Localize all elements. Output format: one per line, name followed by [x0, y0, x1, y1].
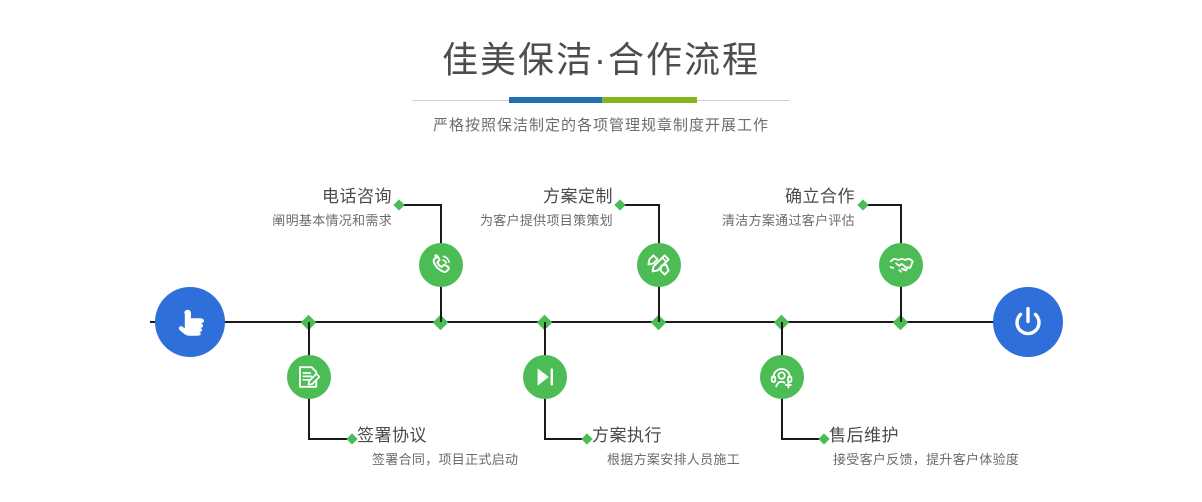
- step-title: 方案执行: [592, 425, 842, 447]
- flow-end-node[interactable]: [993, 287, 1063, 357]
- step-desc: 阐明基本情况和需求: [140, 211, 392, 231]
- step-icon-sign-agreement[interactable]: [287, 355, 331, 399]
- bottom-connector-horizontal-2: [544, 438, 586, 440]
- step-icon-plan-execution[interactable]: [523, 355, 567, 399]
- handshake-icon: [888, 252, 914, 278]
- flowchart-page: 佳美保洁·合作流程 严格按照保洁制定的各项管理规章制度开展工作: [0, 0, 1202, 502]
- step-desc: 签署合同，项目正式启动: [372, 450, 607, 470]
- step-title: 电话咨询: [140, 186, 392, 208]
- step-label-phone-consult: 电话咨询 阐明基本情况和需求: [140, 186, 392, 231]
- step-icon-after-sales[interactable]: [760, 355, 804, 399]
- customer-support-icon: [769, 364, 795, 390]
- step-title: 方案定制: [360, 186, 613, 208]
- bottom-connector-horizontal-3: [781, 438, 823, 440]
- document-sign-icon: [296, 364, 322, 390]
- step-title: 签署协议: [357, 425, 607, 447]
- step-label-plan-execution: 方案执行 根据方案安排人员施工: [592, 425, 842, 470]
- step-icon-phone-consult[interactable]: [419, 243, 463, 287]
- step-desc: 为客户提供项目策策划: [360, 211, 613, 231]
- power-icon: [1008, 302, 1048, 342]
- timeline-axis: [150, 321, 1052, 323]
- step-desc: 接受客户反馈，提升客户体验度: [833, 450, 1089, 470]
- pencil-design-icon: [646, 252, 672, 278]
- flow-start-node[interactable]: [155, 287, 225, 357]
- step-label-sign-agreement: 签署协议 签署合同，项目正式启动: [357, 425, 607, 470]
- step-desc: 清洁方案通过客户评估: [600, 211, 855, 231]
- play-execute-icon: [532, 364, 558, 390]
- process-flow-diagram: 电话咨询 阐明基本情况和需求 方案定制 为客户提供项目策策划: [0, 0, 1202, 502]
- top-connector-tip-3: [857, 199, 868, 210]
- pointing-hand-icon: [170, 302, 210, 342]
- step-icon-establish-cooperation[interactable]: [879, 243, 923, 287]
- bottom-connector-horizontal-1: [308, 438, 351, 440]
- step-label-after-sales: 售后维护 接受客户反馈，提升客户体验度: [829, 425, 1089, 470]
- bottom-connector-tip-1: [346, 433, 357, 444]
- phone-call-icon: [428, 252, 454, 278]
- step-title: 确立合作: [600, 186, 855, 208]
- step-title: 售后维护: [829, 425, 1089, 447]
- step-desc: 根据方案安排人员施工: [607, 450, 842, 470]
- step-label-establish-cooperation: 确立合作 清洁方案通过客户评估: [600, 186, 855, 231]
- step-icon-plan-design[interactable]: [637, 243, 681, 287]
- step-label-plan-design: 方案定制 为客户提供项目策策划: [360, 186, 613, 231]
